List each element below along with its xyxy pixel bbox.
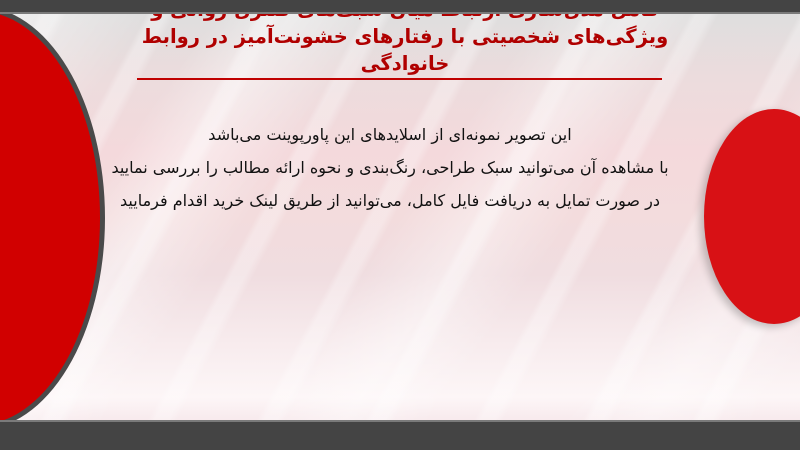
bottom-frame-band [0,422,800,450]
left-red-ellipse-decoration [0,12,105,422]
bottom-frame-divider [0,420,800,422]
body-line-3: در صورت تمایل به دریافت فایل کامل، می‌تو… [40,184,740,217]
title-underline-rule [137,78,662,80]
top-frame-band [0,0,800,12]
presentation-slide: کامل مدل‌سازی ارتباط میان سبک‌های کنترل … [0,0,800,450]
body-line-2: با مشاهده آن می‌توانید سبک طراحی، رنگ‌بن… [40,151,740,184]
slide-body-text: این تصویر نمونه‌ای از اسلایدهای این پاور… [40,118,740,217]
background-streaks [0,12,800,422]
top-frame-divider [0,12,800,14]
slide-canvas [0,12,800,422]
body-line-1: این تصویر نمونه‌ای از اسلایدهای این پاور… [40,118,740,151]
